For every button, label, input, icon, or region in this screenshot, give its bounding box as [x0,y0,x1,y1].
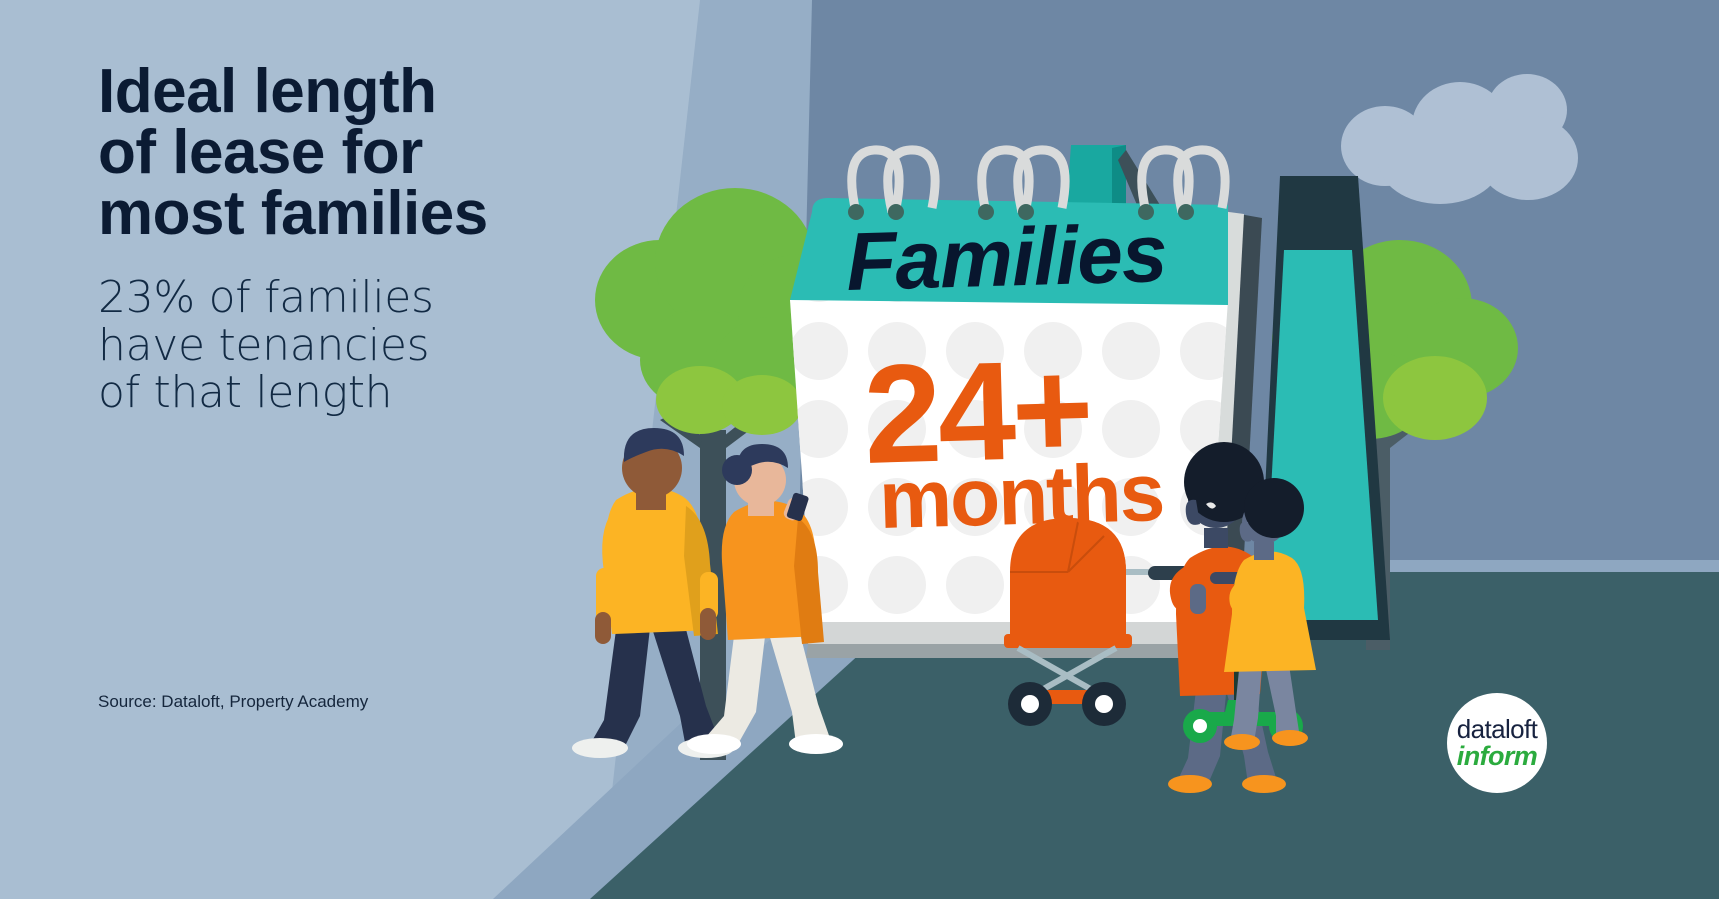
logo-wordmark-inform: inform [1457,743,1537,770]
logo-wordmark-dataloft: dataloft [1457,716,1538,742]
calendar-unit: months [878,452,1164,542]
calendar-tab-title: Families [845,207,1168,310]
subtitle: 23% of families have tenancies of that l… [98,274,618,417]
page-title: Ideal length of lease for most families [98,62,618,244]
dataloft-inform-logo: dataloft inform [1447,693,1547,793]
source-attribution: Source: Dataloft, Property Academy [98,692,368,712]
infographic-canvas: Ideal length of lease for most families … [0,0,1719,899]
headline-block: Ideal length of lease for most families … [98,62,618,417]
